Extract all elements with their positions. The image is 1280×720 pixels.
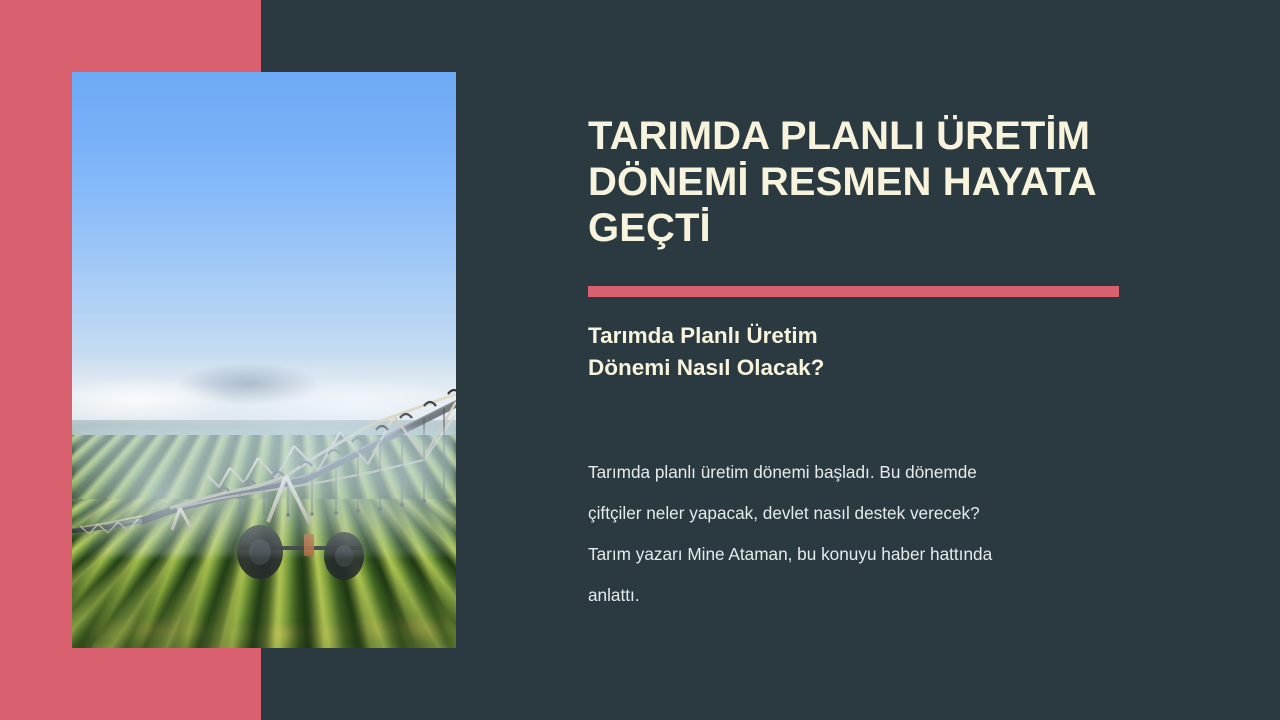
- body-paragraph: Tarımda planlı üretim dönemi başladı. Bu…: [588, 452, 1178, 616]
- page-title-line-3: GEÇTİ: [588, 205, 1133, 251]
- body-line-4: anlattı.: [588, 575, 1178, 616]
- accent-divider: [588, 286, 1119, 297]
- page-subtitle-line-2: Dönemi Nasıl Olacak?: [588, 352, 1108, 384]
- page-title: TARIMDA PLANLI ÜRETİM DÖNEMİ RESMEN HAYA…: [588, 113, 1133, 251]
- photo-frame: [72, 72, 456, 648]
- page-subtitle-line-1: Tarımda Planlı Üretim: [588, 320, 1108, 352]
- text-column: TARIMDA PLANLI ÜRETİM DÖNEMİ RESMEN HAYA…: [588, 0, 1148, 720]
- body-line-3: Tarım yazarı Mine Ataman, bu konuyu habe…: [588, 534, 1178, 575]
- page-title-line-2: DÖNEMİ RESMEN HAYATA: [588, 159, 1133, 205]
- body-line-2: çiftçiler neler yapacak, devlet nasıl de…: [588, 493, 1178, 534]
- slide-canvas: TARIMDA PLANLI ÜRETİM DÖNEMİ RESMEN HAYA…: [0, 0, 1280, 720]
- body-line-1: Tarımda planlı üretim dönemi başladı. Bu…: [588, 452, 1178, 493]
- page-title-line-1: TARIMDA PLANLI ÜRETİM: [588, 113, 1133, 159]
- pivot-irrigation-boom: [72, 72, 456, 648]
- irrigation-field-photo: [72, 72, 456, 648]
- page-subtitle: Tarımda Planlı Üretim Dönemi Nasıl Olaca…: [588, 320, 1108, 384]
